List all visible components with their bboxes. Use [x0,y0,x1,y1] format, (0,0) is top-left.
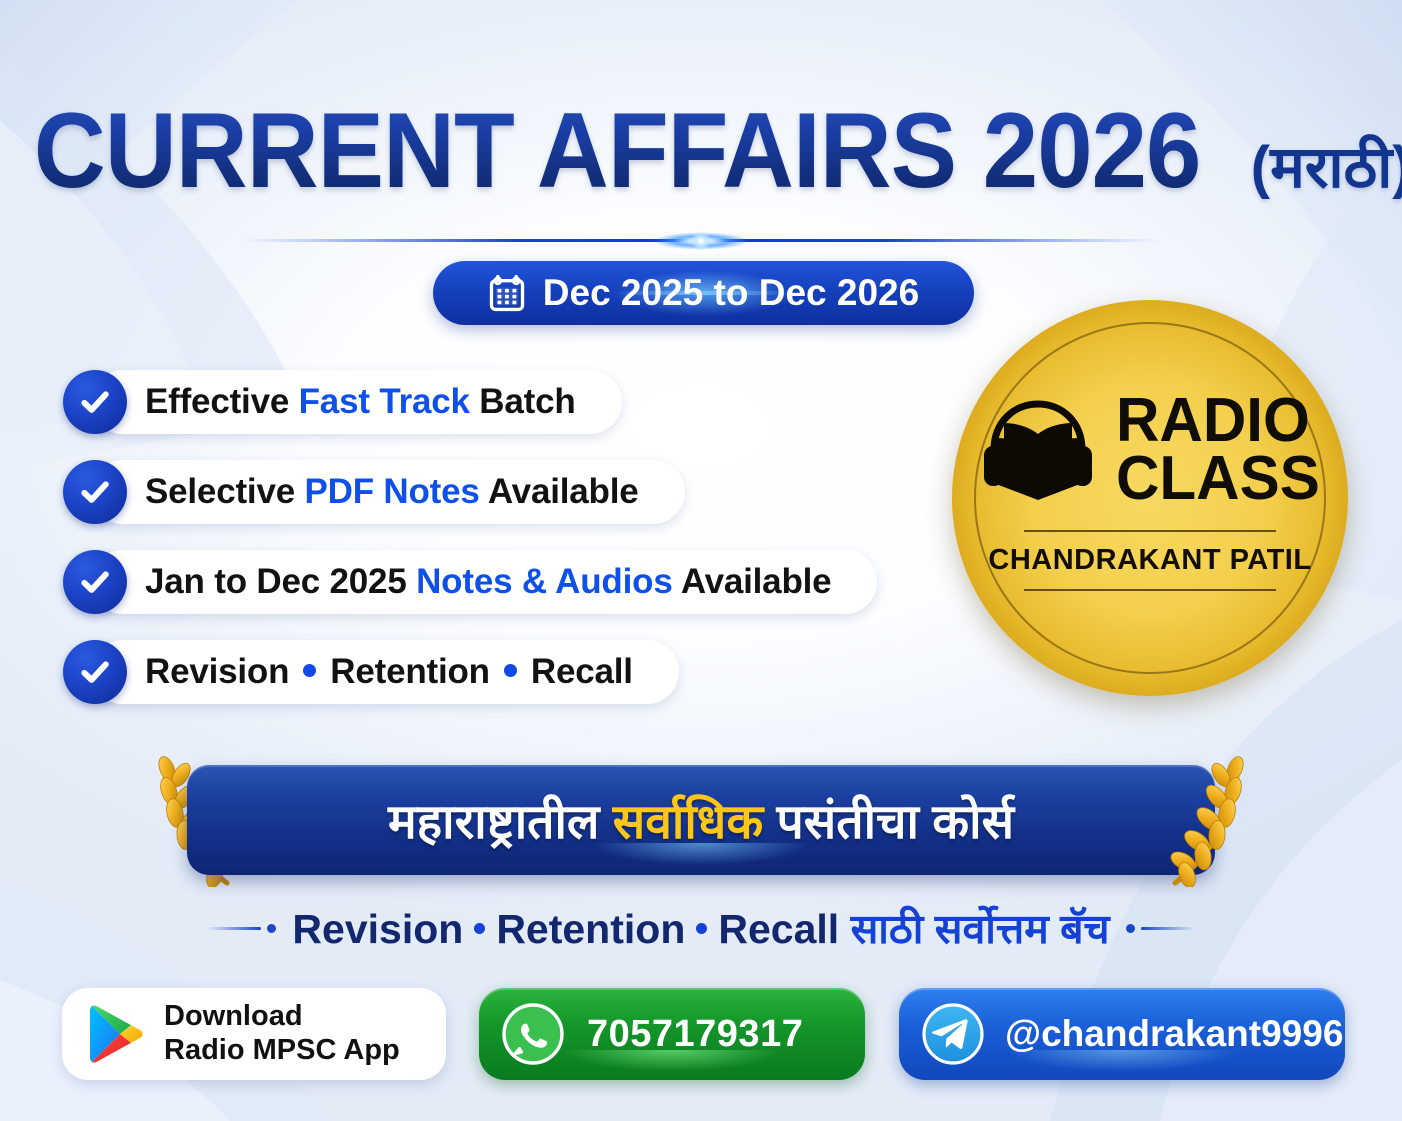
banner-text: महाराष्ट्रातील सर्वाधिक पसंतीचा कोर्स [388,788,1014,853]
feature-text: Selective PDF Notes Available [145,472,639,512]
tagline-row: RevisionRetentionRecall साठी सर्वोत्तम ब… [0,900,1402,956]
feature-part: Recall [531,652,633,691]
banner-plate: महाराष्ट्रातील सर्वाधिक पसंतीचा कोर्स [187,765,1215,875]
tagline-word-2: Retention [496,906,685,952]
glow-divider [241,228,1161,254]
feature-part: Batch [470,382,576,421]
bullet-dot-icon [696,923,707,934]
radio-class-medallion: RADIO CLASS CHANDRAKANT PATIL [952,300,1348,696]
feature-text: RevisionRetentionRecall [145,652,633,692]
check-circle-icon [63,370,127,434]
date-range-badge[interactable]: Dec 2025 to Dec 2026 [433,261,974,325]
telegram-button[interactable]: @chandrakant9996 [899,988,1345,1080]
whatsapp-icon [501,1002,565,1066]
banner-text-before: महाराष्ट्रातील [388,796,613,849]
medallion-line-2: CLASS [1116,450,1320,507]
tagline-word-3: Recall [718,906,839,952]
whatsapp-button[interactable]: 7057179317 [479,988,865,1080]
book-headphones-icon [974,390,1102,510]
feature-part-highlight: Fast Track [299,382,470,421]
bullet-dot-icon [474,923,485,934]
feature-row[interactable]: RevisionRetentionRecall [63,640,831,704]
whatsapp-number: 7057179317 [587,1013,803,1056]
bullet-dot-icon [303,664,316,677]
feature-part: Retention [330,652,490,691]
medallion-divider [1024,530,1276,532]
check-circle-icon [63,460,127,524]
telegram-icon [921,1002,985,1066]
medallion-inner: RADIO CLASS CHANDRAKANT PATIL [974,322,1326,674]
feature-text: Jan to Dec 2025 Notes & Audios Available [145,562,831,602]
feature-part: Available [480,472,639,511]
tagline-word-1: Revision [292,906,463,952]
title-language-tag: (मराठी) [1251,125,1402,204]
banner-text-after: पसंतीचा कोर्स [763,796,1014,849]
calendar-icon [488,274,526,312]
title-main-text: CURRENT AFFAIRS 2026 [34,88,1201,212]
medallion-line-1: RADIO [1116,392,1320,449]
feature-text: Effective Fast Track Batch [145,382,576,422]
page-title: CURRENT AFFAIRS 2026 (मराठी) [0,88,1402,212]
medallion-divider [1024,589,1276,591]
medallion-author-name: CHANDRAKANT PATIL [988,544,1311,577]
feature-part: Effective [145,382,299,421]
highlight-banner: महाराष्ट्रातील सर्वाधिक पसंतीचा कोर्स [143,757,1259,883]
tagline-text: RevisionRetentionRecall साठी सर्वोत्तम ब… [292,900,1109,956]
feature-row[interactable]: Selective PDF Notes Available [63,460,831,524]
medallion-header: RADIO CLASS [974,390,1326,510]
poster-canvas: CURRENT AFFAIRS 2026 (मराठी) [0,0,1402,1121]
download-line-2: Radio MPSC App [164,1034,400,1068]
feature-part: Selective [145,472,305,511]
download-app-button[interactable]: Download Radio MPSC App [62,988,446,1080]
ornament-left-icon [207,924,276,933]
date-range-label: Dec 2025 to Dec 2026 [543,272,919,314]
tagline-marathi: साठी सर्वोत्तम बॅच [851,906,1110,952]
ornament-right-icon [1126,924,1195,933]
download-line-1: Download [164,1000,400,1034]
feature-list: Effective Fast Track Batch Selective PDF… [63,370,831,730]
feature-part: Revision [145,652,289,691]
download-app-label: Download Radio MPSC App [164,1000,400,1068]
banner-text-gold: सर्वाधिक [613,796,763,849]
laurel-branch-icon [1163,753,1259,887]
feature-row[interactable]: Effective Fast Track Batch [63,370,831,434]
feature-row[interactable]: Jan to Dec 2025 Notes & Audios Available [63,550,831,614]
telegram-handle: @chandrakant9996 [1005,1013,1343,1055]
contact-button-row: Download Radio MPSC App 7057179317 [0,988,1402,1084]
check-circle-icon [63,640,127,704]
feature-part: Jan to Dec 2025 [145,562,416,601]
feature-part: Available [673,562,832,601]
check-circle-icon [63,550,127,614]
medallion-wordmark: RADIO CLASS [1116,392,1326,506]
bullet-dot-icon [504,664,517,677]
google-play-icon [88,1003,144,1065]
feature-part-highlight: Notes & Audios [416,562,672,601]
feature-part-highlight: PDF Notes [305,472,480,511]
